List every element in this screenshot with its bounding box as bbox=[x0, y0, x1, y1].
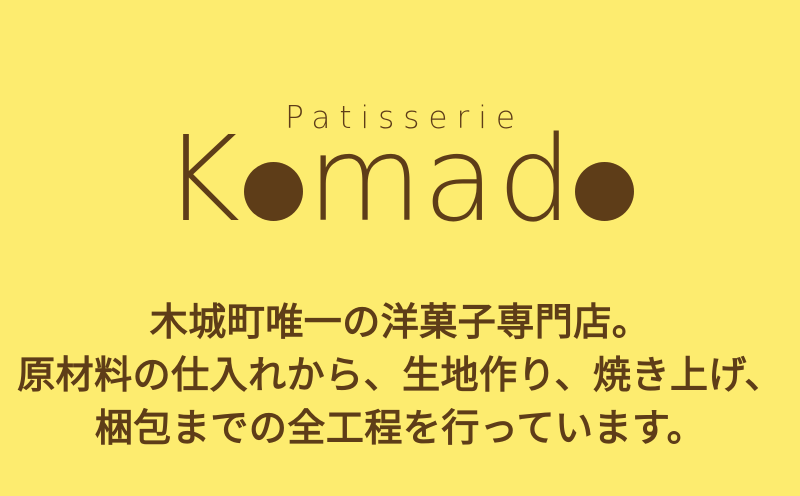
letter-o-dot-2-icon bbox=[575, 162, 634, 221]
brand-wordmark: K ma d bbox=[0, 126, 800, 222]
tagline-line-1: 木城町唯一の洋菓子専門店。 bbox=[0, 296, 800, 349]
letter-o-dot-1-icon bbox=[244, 162, 303, 221]
wordmark-letter-k: K bbox=[163, 136, 240, 222]
wordmark-letter-d: d bbox=[497, 136, 572, 222]
tagline: 木城町唯一の洋菓子専門店。 原材料の仕入れから、生地作り、焼き上げ、 梱包までの… bbox=[0, 296, 800, 455]
wordmark-letters-ma: ma bbox=[307, 136, 496, 222]
brand-logo: Patisserie K ma d bbox=[0, 0, 800, 250]
tagline-line-3: 梱包までの全工程を行っています。 bbox=[0, 402, 800, 455]
promo-banner: Patisserie K ma d 木城町唯一の洋菓子専門店。 原材料の仕入れか… bbox=[0, 0, 800, 496]
tagline-line-2: 原材料の仕入れから、生地作り、焼き上げ、 bbox=[0, 349, 800, 402]
